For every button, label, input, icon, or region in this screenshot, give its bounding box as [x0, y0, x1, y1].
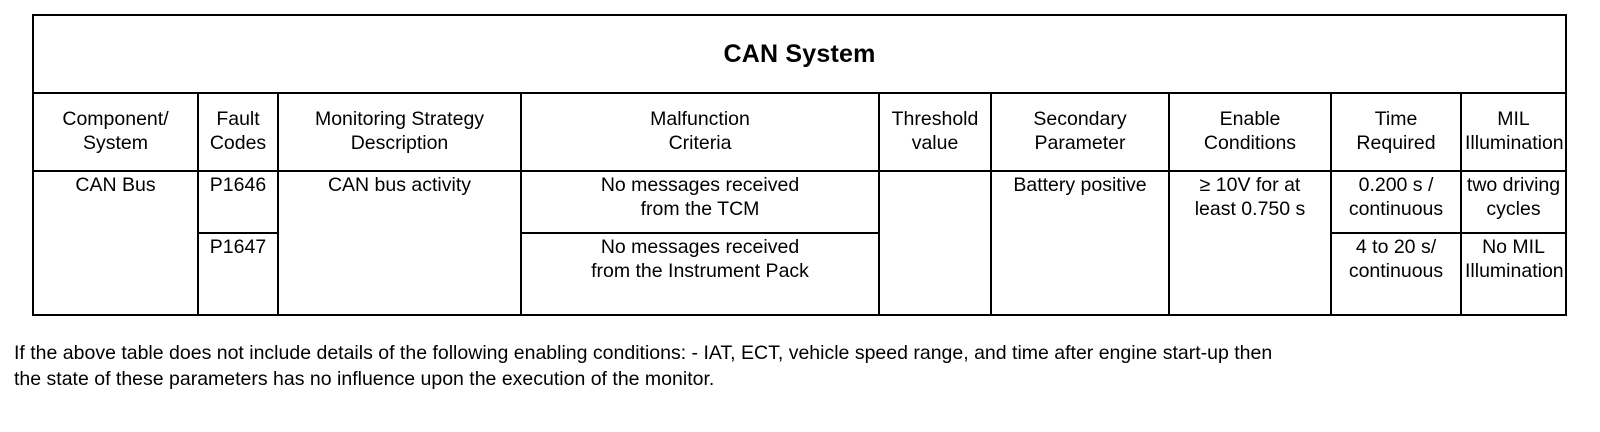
footnote: If the above table does not include deta…	[14, 340, 1574, 393]
column-header-fault-codes: Fault Codes	[198, 93, 278, 171]
footnote-line-2: the state of these parameters has no inf…	[14, 366, 1574, 392]
column-header-secondary-parameter: Secondary Parameter	[991, 93, 1169, 171]
table-header-row: Component/ System Fault Codes Monitoring…	[33, 93, 1566, 171]
column-header-enable-conditions: Enable Conditions	[1169, 93, 1331, 171]
document-page: CAN System Component/ System Fault Codes…	[0, 0, 1600, 432]
table-row: CAN Bus P1646 CAN bus activity No messag…	[33, 171, 1566, 233]
cell-fault-code: P1647	[198, 233, 278, 315]
cell-time-required: 4 to 20 s/ continuous	[1331, 233, 1461, 315]
can-system-table-wrapper: CAN System Component/ System Fault Codes…	[32, 14, 1565, 316]
cell-malfunction-criteria: No messages received from the Instrument…	[521, 233, 879, 315]
cell-mil-illumination: No MIL Illumination	[1461, 233, 1566, 315]
footnote-line-1: If the above table does not include deta…	[14, 340, 1574, 366]
column-header-component-system: Component/ System	[33, 93, 198, 171]
cell-enable-conditions: ≥ 10V for at least 0.750 s	[1169, 171, 1331, 315]
table-title-row: CAN System	[33, 15, 1566, 93]
can-system-table: CAN System Component/ System Fault Codes…	[32, 14, 1567, 316]
column-header-monitoring-strategy-description: Monitoring Strategy Description	[278, 93, 521, 171]
table-title: CAN System	[33, 15, 1566, 93]
table-row: P1647 No messages received from the Inst…	[33, 233, 1566, 315]
column-header-time-required: Time Required	[1331, 93, 1461, 171]
column-header-threshold-value: Threshold value	[879, 93, 991, 171]
cell-component-system: CAN Bus	[33, 171, 198, 315]
cell-time-required: 0.200 s / continuous	[1331, 171, 1461, 233]
cell-mil-illumination: two driving cycles	[1461, 171, 1566, 233]
cell-threshold-value	[879, 171, 991, 315]
cell-monitoring-strategy-description: CAN bus activity	[278, 171, 521, 315]
cell-secondary-parameter: Battery positive	[991, 171, 1169, 315]
column-header-malfunction-criteria: Malfunction Criteria	[521, 93, 879, 171]
cell-malfunction-criteria: No messages received from the TCM	[521, 171, 879, 233]
column-header-mil-illumination: MIL Illumination	[1461, 93, 1566, 171]
cell-fault-code: P1646	[198, 171, 278, 233]
